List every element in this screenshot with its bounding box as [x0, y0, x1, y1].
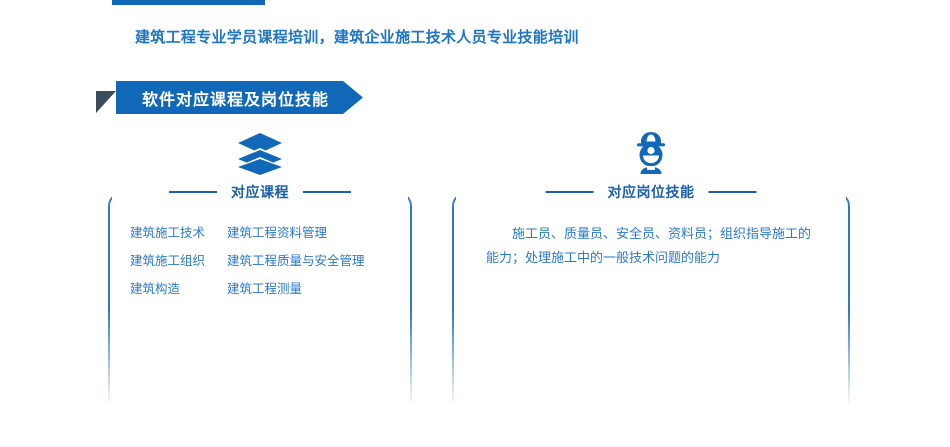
skills-title-text: 对应岗位技能 [608, 182, 695, 202]
construction-worker-icon [624, 130, 678, 176]
list-item: 建筑工程资料管理 [227, 222, 365, 241]
courses-columns: 建筑施工技术 建筑施工组织 建筑构造 建筑工程资料管理 建筑工程质量与安全管理 … [122, 222, 398, 297]
banner-ribbon: 软件对应课程及岗位技能 [116, 81, 363, 114]
page-root: 建筑工程专业学员课程培训，建筑企业施工技术人员专业技能培训 软件对应课程及岗位技… [0, 0, 950, 447]
title-rule-right [303, 191, 351, 193]
skills-card-title: 对应岗位技能 [544, 182, 759, 202]
title-rule-left [169, 191, 217, 193]
list-item: 建筑施工技术 [130, 222, 205, 241]
page-headline: 建筑工程专业学员课程培训，建筑企业施工技术人员专业技能培训 [135, 26, 579, 47]
banner-label: 软件对应课程及岗位技能 [142, 86, 329, 110]
skills-card-body: 施工员、质量员、安全员、资料员；组织指导施工的能力；处理施工中的一般技术问题的能… [452, 222, 850, 270]
list-item: 建筑构造 [130, 278, 205, 297]
skills-paragraph: 施工员、质量员、安全员、资料员；组织指导施工的能力；处理施工中的一般技术问题的能… [466, 222, 836, 270]
banner-tail-triangle [96, 91, 116, 113]
list-item: 建筑工程质量与安全管理 [227, 250, 365, 269]
courses-column-2: 建筑工程资料管理 建筑工程质量与安全管理 建筑工程测量 [227, 222, 365, 297]
list-item: 建筑施工组织 [130, 250, 205, 269]
top-accent-bar [112, 0, 265, 5]
courses-card-title: 对应课程 [167, 182, 353, 202]
courses-column-1: 建筑施工技术 建筑施工组织 建筑构造 [130, 222, 205, 297]
courses-card-body: 建筑施工技术 建筑施工组织 建筑构造 建筑工程资料管理 建筑工程质量与安全管理 … [108, 222, 412, 297]
courses-title-text: 对应课程 [231, 182, 289, 202]
layers-stack-icon [233, 130, 287, 176]
list-item: 建筑工程测量 [227, 278, 365, 297]
title-rule-right [709, 191, 757, 193]
title-rule-left [546, 191, 594, 193]
